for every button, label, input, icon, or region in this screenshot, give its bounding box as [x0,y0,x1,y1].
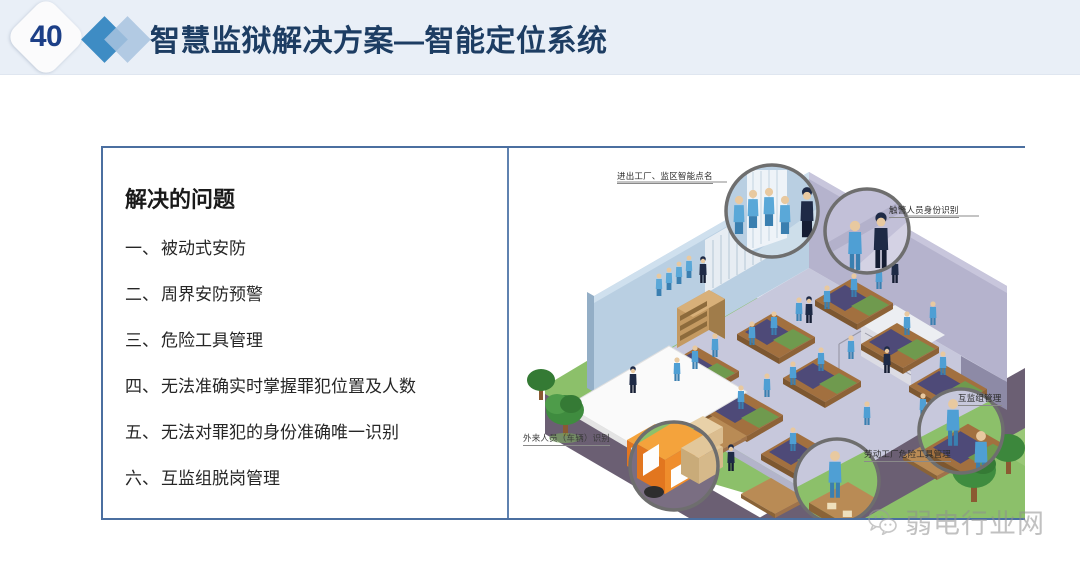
content-box: 解决的问题 一、被动式安防 二、周界安防预警 三、危险工具管理 四、无法准确实时… [101,146,1025,520]
problem-item: 一、被动式安防 [125,234,507,259]
problem-text: 无法准确实时掌握罪犯位置及人数 [161,377,416,396]
problem-number: 四、 [125,377,159,396]
problem-number: 六、 [125,469,159,488]
watermark-text: 弱电行业网 [905,502,1045,541]
problem-item: 五、无法对罪犯的身份准确唯一识别 [125,418,507,443]
label-dangerous-tools: 劳动工厂危险工具管理 [864,448,951,462]
problem-text: 周界安防预警 [161,285,263,304]
magnifier-guard-id [825,189,909,273]
wechat-bubble-icon [868,509,898,535]
problem-text: 互监组脱岗管理 [161,469,280,488]
problem-text: 被动式安防 [161,239,246,258]
problem-item: 四、无法准确实时掌握罪犯位置及人数 [125,372,507,397]
problem-number: 二、 [125,285,159,304]
page-title: 智慧监狱解决方案—智能定位系统 [150,16,608,60]
magnifier-rollcall [726,165,818,257]
problem-number: 五、 [125,423,159,442]
problem-item: 三、危险工具管理 [125,326,507,351]
label-rollcall: 进出工厂、监区智能点名 [617,170,713,184]
problem-text: 无法对罪犯的身份准确唯一识别 [161,423,399,442]
label-mutual-group: 互监组管理 [958,392,1002,406]
slide-header: 40 智慧监狱解决方案—智能定位系统 [0,0,1080,75]
problem-item: 六、互监组脱岗管理 [125,464,507,489]
problems-panel: 解决的问题 一、被动式安防 二、周界安防预警 三、危险工具管理 四、无法准确实时… [103,148,507,518]
slide-number-text: 40 [17,8,75,66]
problems-heading: 解决的问题 [125,182,507,214]
problem-text: 危险工具管理 [161,331,263,350]
watermark: 弱电行业网 [868,502,1045,541]
problem-number: 三、 [125,331,159,350]
label-guard-id: 触警人员身份识别 [889,204,959,218]
label-visitor-vehicle: 外来人员（车辆）识别 [523,432,610,446]
problem-item: 二、周界安防预警 [125,280,507,305]
problem-number: 一、 [125,239,159,258]
illustration-panel: 进出工厂、监区智能点名 触警人员身份识别 外来人员（车辆）识别 互监组管理 劳动… [509,148,1025,518]
